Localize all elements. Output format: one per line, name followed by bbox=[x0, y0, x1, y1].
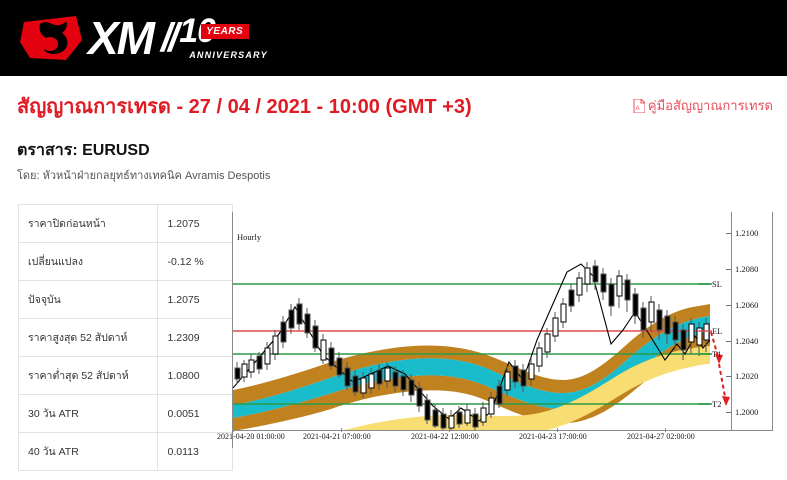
table-row: ราคาต่ำสุด 52 สัปดาห์1.0800 bbox=[19, 357, 233, 395]
stat-label: ราคาปิดก่อนหน้า bbox=[19, 205, 158, 243]
chart-plot-area: Hourly bbox=[233, 212, 710, 430]
stat-label: ปัจจุบัน bbox=[19, 281, 158, 319]
level-label-t2: T2 bbox=[712, 399, 721, 409]
stat-label: ราคาสูงสุด 52 สัปดาห์ bbox=[19, 319, 158, 357]
stat-value: 1.2309 bbox=[158, 319, 233, 357]
table-row: 40 วัน ATR0.0113 bbox=[19, 433, 233, 471]
title-row: สัญญาณการเทรด - 27 / 04 / 2021 - 10:00 (… bbox=[0, 76, 787, 120]
bull-logo-icon bbox=[20, 12, 86, 64]
time-tick-label: 2021-04-21 07:00:00 bbox=[303, 432, 371, 441]
time-axis-labels: 2021-04-20 01:00:002021-04-21 07:00:0020… bbox=[233, 432, 773, 448]
stat-label: ราคาต่ำสุด 52 สัปดาห์ bbox=[19, 357, 158, 395]
table-row: 30 วัน ATR0.0051 bbox=[19, 395, 233, 433]
price-tick-label: 1.2100 bbox=[735, 228, 758, 238]
time-tick-label: 2021-04-27 02:00:00 bbox=[627, 432, 695, 441]
price-axis-line bbox=[731, 212, 732, 430]
table-row: เปลี่ยนแปลง-0.12 % bbox=[19, 243, 233, 281]
instrument-label: ตราสาร: EURUSD bbox=[17, 138, 150, 163]
stat-value: 1.2075 bbox=[158, 205, 233, 243]
trading-signals-guide-link[interactable]: A คู่มือสัญญาณการเทรด bbox=[633, 95, 773, 116]
price-tick-mark bbox=[726, 269, 731, 270]
svg-text:A: A bbox=[635, 106, 639, 112]
price-tick-label: 1.2000 bbox=[735, 407, 758, 417]
site-header: XM // 10 YEARS ANNIVERSARY bbox=[0, 0, 787, 76]
price-tick-label: 1.2080 bbox=[735, 264, 758, 274]
stat-value: -0.12 % bbox=[158, 243, 233, 281]
anniversary-ribbon: YEARS bbox=[201, 24, 249, 39]
chart-timeframe-label: Hourly bbox=[237, 232, 261, 242]
logo-divider: // bbox=[161, 12, 175, 64]
pdf-file-icon: A bbox=[633, 99, 645, 113]
table-row: ราคาปิดก่อนหน้า1.2075 bbox=[19, 205, 233, 243]
time-tick-label: 2021-04-22 12:00:00 bbox=[411, 432, 479, 441]
brand-wordmark: XM bbox=[88, 12, 153, 64]
trading-signals-guide-label: คู่มือสัญญาณการเทรด bbox=[648, 95, 773, 116]
market-stats-table: ราคาปิดก่อนหน้า1.2075เปลี่ยนแปลง-0.12 %ป… bbox=[18, 204, 233, 471]
price-tick-label: 1.2040 bbox=[735, 336, 758, 346]
price-tick-mark bbox=[726, 341, 731, 342]
stat-value: 1.0800 bbox=[158, 357, 233, 395]
stat-label: 30 วัน ATR bbox=[19, 395, 158, 433]
byline: โดย: หัวหน้าฝ่ายกลยุทธ์ทางเทคนิค Avramis… bbox=[17, 166, 270, 184]
stat-label: 40 วัน ATR bbox=[19, 433, 158, 471]
price-tick-label: 1.2020 bbox=[735, 371, 758, 381]
price-tick-mark bbox=[726, 376, 731, 377]
price-chart[interactable]: Hourly 1.21001.20801.20601.20401.20201.2… bbox=[232, 212, 772, 448]
price-tick-mark bbox=[726, 412, 731, 413]
anniversary-label: ANNIVERSARY bbox=[189, 50, 268, 60]
stat-label: เปลี่ยนแปลง bbox=[19, 243, 158, 281]
level-label-sl: SL bbox=[712, 279, 722, 289]
stat-value: 1.2075 bbox=[158, 281, 233, 319]
stat-value: 0.0051 bbox=[158, 395, 233, 433]
price-tick-mark bbox=[726, 305, 731, 306]
time-tick-label: 2021-04-23 17:00:00 bbox=[519, 432, 587, 441]
level-label-t1: T1 bbox=[712, 349, 721, 359]
level-label-el: EL bbox=[712, 326, 722, 336]
price-tick-label: 1.2060 bbox=[735, 300, 758, 310]
table-row: ปัจจุบัน1.2075 bbox=[19, 281, 233, 319]
price-tick-mark bbox=[726, 233, 731, 234]
time-axis-line bbox=[233, 430, 773, 431]
table-row: ราคาสูงสุด 52 สัปดาห์1.2309 bbox=[19, 319, 233, 357]
chart-svg bbox=[233, 212, 710, 430]
page-title: สัญญาณการเทรด - 27 / 04 / 2021 - 10:00 (… bbox=[17, 90, 472, 122]
time-tick-label: 2021-04-20 01:00:00 bbox=[217, 432, 285, 441]
level-markers bbox=[698, 212, 731, 430]
anniversary-badge: 10 YEARS ANNIVERSARY bbox=[179, 10, 265, 66]
xm-logo[interactable]: XM // 10 YEARS ANNIVERSARY bbox=[20, 8, 265, 68]
chart-right-border bbox=[772, 212, 773, 430]
